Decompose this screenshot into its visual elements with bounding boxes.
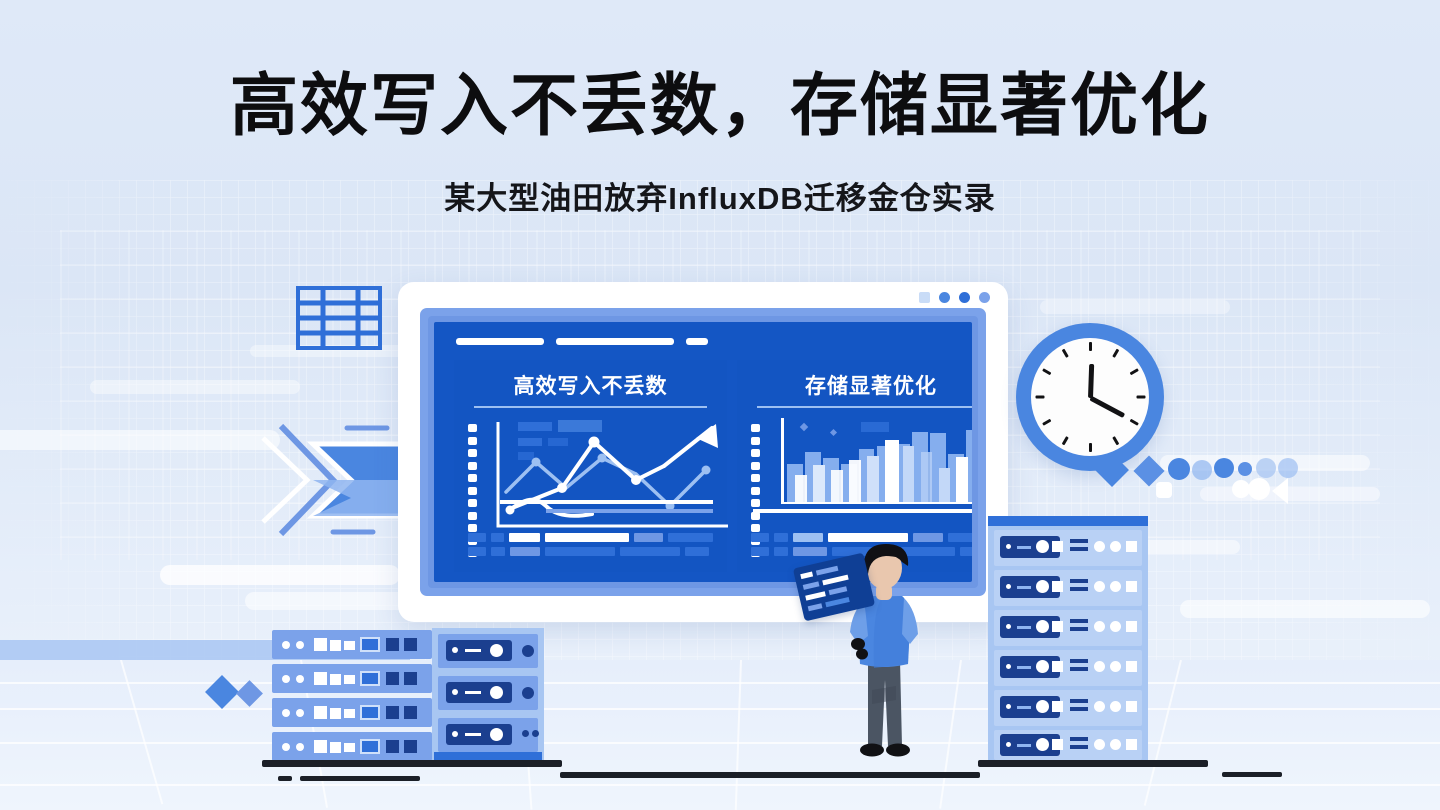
panel-left-footer-row bbox=[468, 547, 713, 556]
server-rack-right[interactable] bbox=[988, 516, 1148, 764]
panel-left[interactable]: 高效写入不丢数 bbox=[454, 360, 727, 572]
decor-dot bbox=[1168, 458, 1190, 480]
panel-right-rule bbox=[757, 406, 972, 408]
ground-line-accent bbox=[300, 776, 420, 781]
server-unit[interactable] bbox=[994, 730, 1142, 760]
table-grid-icon bbox=[296, 286, 382, 350]
server-unit[interactable] bbox=[994, 570, 1142, 606]
decor-triangle bbox=[1272, 478, 1288, 504]
screen-header-bars bbox=[456, 338, 708, 345]
decor-dot bbox=[1156, 482, 1172, 498]
decor-dot bbox=[1192, 460, 1212, 480]
window-dot bbox=[939, 292, 950, 303]
server-unit[interactable] bbox=[994, 610, 1142, 646]
decor-bar bbox=[1180, 600, 1430, 618]
ground-line-accent bbox=[278, 776, 292, 781]
ground-line-center bbox=[560, 772, 980, 778]
clock-face bbox=[1031, 338, 1149, 456]
panel-right-title: 存储显著优化 bbox=[737, 370, 972, 400]
panel-left-title: 高效写入不丢数 bbox=[454, 370, 727, 400]
server-unit[interactable] bbox=[272, 664, 432, 693]
ground-line-left bbox=[262, 760, 562, 767]
window-dot bbox=[919, 292, 930, 303]
decor-dot bbox=[1278, 458, 1298, 478]
server-unit[interactable] bbox=[272, 630, 432, 659]
header-bar bbox=[456, 338, 544, 345]
header-bar bbox=[686, 338, 708, 345]
panel-right-chart bbox=[737, 416, 972, 516]
server-unit[interactable] bbox=[994, 650, 1142, 686]
page-subtitle: 某大型油田放弃InfluxDB迁移金仓实录 bbox=[0, 183, 1440, 214]
page-title: 高效写入不丢数，存储显著优化 bbox=[0, 72, 1440, 140]
decor-dot bbox=[1238, 462, 1252, 476]
window-dot bbox=[959, 292, 970, 303]
panel-left-footer-row bbox=[468, 533, 713, 542]
header-bar bbox=[556, 338, 674, 345]
server-unit[interactable] bbox=[994, 530, 1142, 566]
decor-bar bbox=[1040, 300, 1230, 314]
server-unit[interactable] bbox=[438, 676, 538, 710]
decor-dot bbox=[1248, 478, 1270, 500]
server-unit[interactable] bbox=[438, 634, 538, 668]
decor-bar bbox=[1200, 487, 1380, 501]
clock-minute-hand bbox=[1089, 396, 1125, 418]
panel-left-rule bbox=[474, 406, 707, 408]
clock-hour-hand bbox=[1088, 364, 1094, 398]
decor-dot bbox=[1256, 458, 1276, 478]
decor-bar bbox=[160, 565, 400, 585]
clock-icon bbox=[1016, 323, 1164, 471]
decor-bar bbox=[0, 430, 280, 450]
server-unit[interactable] bbox=[438, 718, 538, 752]
server-rack-mid[interactable] bbox=[432, 628, 544, 764]
decor-bar bbox=[90, 380, 300, 394]
server-unit[interactable] bbox=[272, 732, 432, 761]
server-unit[interactable] bbox=[994, 690, 1142, 726]
panel-left-chart bbox=[454, 416, 727, 516]
ground-line-accent bbox=[1222, 772, 1282, 777]
window-dots bbox=[919, 292, 990, 303]
server-rack-left[interactable] bbox=[272, 630, 432, 762]
decor-dot bbox=[1214, 458, 1234, 478]
window-dot bbox=[979, 292, 990, 303]
server-unit[interactable] bbox=[272, 698, 432, 727]
ground-line-right bbox=[978, 760, 1208, 767]
